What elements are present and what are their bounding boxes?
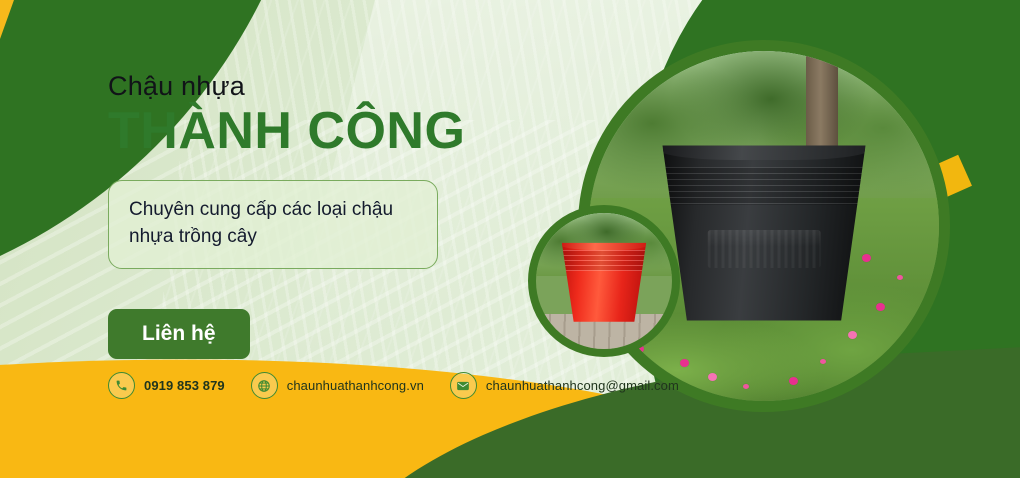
flower: [848, 331, 857, 339]
contact-item-website[interactable]: chaunhuathanhcong.vn: [251, 372, 424, 399]
promo-banner: Chậu nhựa THÀNH CÔNG Chuyên cung cấp các…: [0, 0, 1020, 480]
flower: [897, 275, 903, 280]
tagline-text: Chuyên cung cấp các loại chậu nhựa trồng…: [129, 197, 417, 251]
kicker-text: Chậu nhựa: [108, 72, 528, 102]
tagline-box: Chuyên cung cấp các loại chậu nhựa trồng…: [108, 180, 438, 269]
flower: [600, 359, 606, 364]
envelope-icon: [450, 372, 477, 399]
flower: [708, 373, 717, 381]
contact-button[interactable]: Liên hệ: [108, 309, 250, 359]
flower: [743, 384, 749, 389]
pot-embossed-logo: [707, 230, 821, 269]
flower: [680, 359, 689, 367]
phone-icon: [108, 372, 135, 399]
brand-title: THÀNH CÔNG: [108, 104, 528, 159]
headline-block: Chậu nhựa THÀNH CÔNG Chuyên cung cấp các…: [108, 72, 528, 359]
product-photo-red-pot: [528, 205, 680, 357]
pot-ribs: [663, 167, 866, 206]
flower: [789, 377, 798, 385]
globe-icon: [251, 372, 278, 399]
contact-item-email[interactable]: chaunhuathanhcong@gmail.com: [450, 372, 679, 399]
website-url: chaunhuathanhcong.vn: [287, 378, 424, 393]
email-address: chaunhuathanhcong@gmail.com: [486, 378, 679, 393]
flower: [862, 254, 871, 262]
pot-ribs: [562, 250, 646, 271]
black-pot: [663, 146, 866, 321]
phone-number: 0919 853 879: [144, 378, 225, 393]
flower: [911, 324, 920, 332]
flower: [876, 303, 885, 311]
garden-scene-small: [536, 213, 672, 349]
contact-bar: 0919 853 879 chaunhuathanhcong.vn: [108, 372, 679, 399]
flower: [820, 359, 826, 364]
red-pot: [562, 243, 646, 322]
contact-item-phone[interactable]: 0919 853 879: [108, 372, 225, 399]
